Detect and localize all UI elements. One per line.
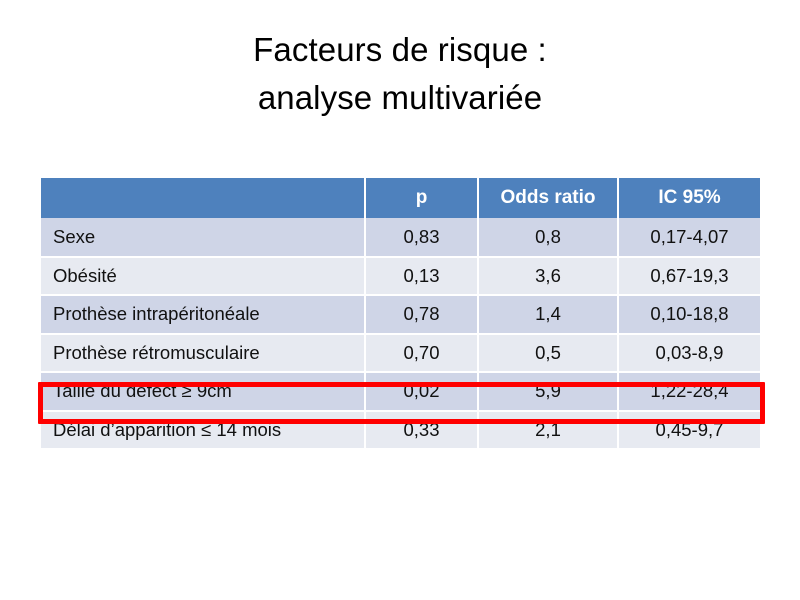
cell-ic95: 0,45-9,7 [618, 411, 760, 450]
table-body: Sexe 0,83 0,8 0,17-4,07 Obésité 0,13 3,6… [41, 218, 760, 449]
cell-odds-ratio: 5,9 [478, 372, 618, 411]
cell-odds-ratio: 3,6 [478, 257, 618, 296]
cell-p-value: 0,78 [365, 295, 478, 334]
cell-p-value: 0,13 [365, 257, 478, 296]
table-row: Prothèse intrapéritonéale 0,78 1,4 0,10-… [41, 295, 760, 334]
column-header-p: p [365, 178, 478, 218]
table-row-highlighted: Taille du défect ≥ 9cm 0,02 5,9 1,22-28,… [41, 372, 760, 411]
cell-factor-label: Prothèse rétromusculaire [41, 334, 365, 373]
cell-p-value: 0,70 [365, 334, 478, 373]
risk-factors-table-container: p Odds ratio IC 95% Sexe 0,83 0,8 0,17-4… [41, 178, 760, 450]
cell-odds-ratio: 0,8 [478, 218, 618, 257]
page-title-line-1: Facteurs de risque : [0, 26, 800, 74]
cell-p-value: 0,02 [365, 372, 478, 411]
page-title-line-2: analyse multivariée [0, 74, 800, 122]
table-header-row: p Odds ratio IC 95% [41, 178, 760, 218]
cell-ic95: 1,22-28,4 [618, 372, 760, 411]
table-header: p Odds ratio IC 95% [41, 178, 760, 218]
table-row: Prothèse rétromusculaire 0,70 0,5 0,03-8… [41, 334, 760, 373]
table-row: Délai d’apparition ≤ 14 mois 0,33 2,1 0,… [41, 411, 760, 450]
column-header-ic95: IC 95% [618, 178, 760, 218]
page-title: Facteurs de risque : analyse multivariée [0, 26, 800, 122]
cell-factor-label: Prothèse intrapéritonéale [41, 295, 365, 334]
cell-odds-ratio: 0,5 [478, 334, 618, 373]
cell-odds-ratio: 2,1 [478, 411, 618, 450]
cell-factor-label: Sexe [41, 218, 365, 257]
cell-p-value: 0,83 [365, 218, 478, 257]
table-row: Obésité 0,13 3,6 0,67-19,3 [41, 257, 760, 296]
column-header-odds-ratio: Odds ratio [478, 178, 618, 218]
cell-ic95: 0,03-8,9 [618, 334, 760, 373]
cell-factor-label: Taille du défect ≥ 9cm [41, 372, 365, 411]
cell-ic95: 0,10-18,8 [618, 295, 760, 334]
column-header-factor [41, 178, 365, 218]
cell-factor-label: Obésité [41, 257, 365, 296]
cell-odds-ratio: 1,4 [478, 295, 618, 334]
cell-ic95: 0,67-19,3 [618, 257, 760, 296]
cell-p-value: 0,33 [365, 411, 478, 450]
slide-canvas: Facteurs de risque : analyse multivariée… [0, 0, 800, 600]
cell-factor-label: Délai d’apparition ≤ 14 mois [41, 411, 365, 450]
table-row: Sexe 0,83 0,8 0,17-4,07 [41, 218, 760, 257]
cell-ic95: 0,17-4,07 [618, 218, 760, 257]
risk-factors-table: p Odds ratio IC 95% Sexe 0,83 0,8 0,17-4… [41, 178, 760, 450]
